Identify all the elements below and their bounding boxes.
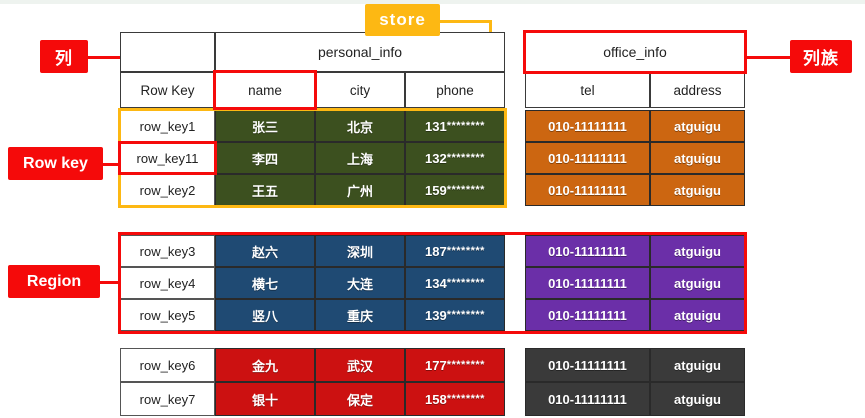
table-row-key: row_key6 (120, 348, 215, 382)
connector-column-family (742, 56, 790, 59)
left-table-corner-cell (120, 32, 215, 72)
diagram-canvas: personal_info Row Key name city phone of… (0, 0, 865, 418)
phone-mask: ******** (447, 359, 485, 371)
table-cell-city: 武汉 (315, 348, 405, 382)
table-cell-phone: 177******** (405, 348, 505, 382)
table-row-key: row_key7 (120, 382, 215, 416)
column-family-label-chip: 列族 (790, 40, 852, 73)
left-table-column-family-header: personal_info (215, 32, 505, 72)
table-cell-address: atguigu (650, 110, 745, 142)
left-header-phone: phone (405, 72, 505, 108)
table-cell-phone: 158******** (405, 382, 505, 416)
table-cell-tel: 010-11111111 (525, 142, 650, 174)
table-cell-address: atguigu (650, 382, 745, 416)
right-header-address: address (650, 72, 745, 108)
phone-prefix: 158 (425, 392, 447, 407)
region-label-chip: Region (8, 265, 100, 298)
phone-mask: ******** (447, 393, 485, 405)
table-cell-address: atguigu (650, 142, 745, 174)
left-header-row-key: Row Key (120, 72, 215, 108)
phone-prefix: 177 (425, 358, 447, 373)
row-key-label-chip: Row key (8, 147, 103, 180)
connector-store-horizontal (437, 20, 492, 23)
row-key-highlight-box (118, 141, 217, 175)
table-cell-tel: 010-11111111 (525, 110, 650, 142)
table-cell-tel: 010-11111111 (525, 382, 650, 416)
column-label-chip: 列 (40, 40, 88, 73)
table-cell-name: 银十 (215, 382, 315, 416)
table-cell-tel: 010-11111111 (525, 348, 650, 382)
column-highlight-box (213, 70, 317, 110)
left-header-city: city (315, 72, 405, 108)
column-family-highlight-box (523, 30, 747, 74)
table-cell-address: atguigu (650, 174, 745, 206)
table-cell-city: 保定 (315, 382, 405, 416)
region-highlight-box (118, 232, 747, 334)
right-header-tel: tel (525, 72, 650, 108)
table-cell-tel: 010-11111111 (525, 174, 650, 206)
store-label-chip: store (365, 4, 440, 36)
table-cell-name: 金九 (215, 348, 315, 382)
table-cell-address: atguigu (650, 348, 745, 382)
